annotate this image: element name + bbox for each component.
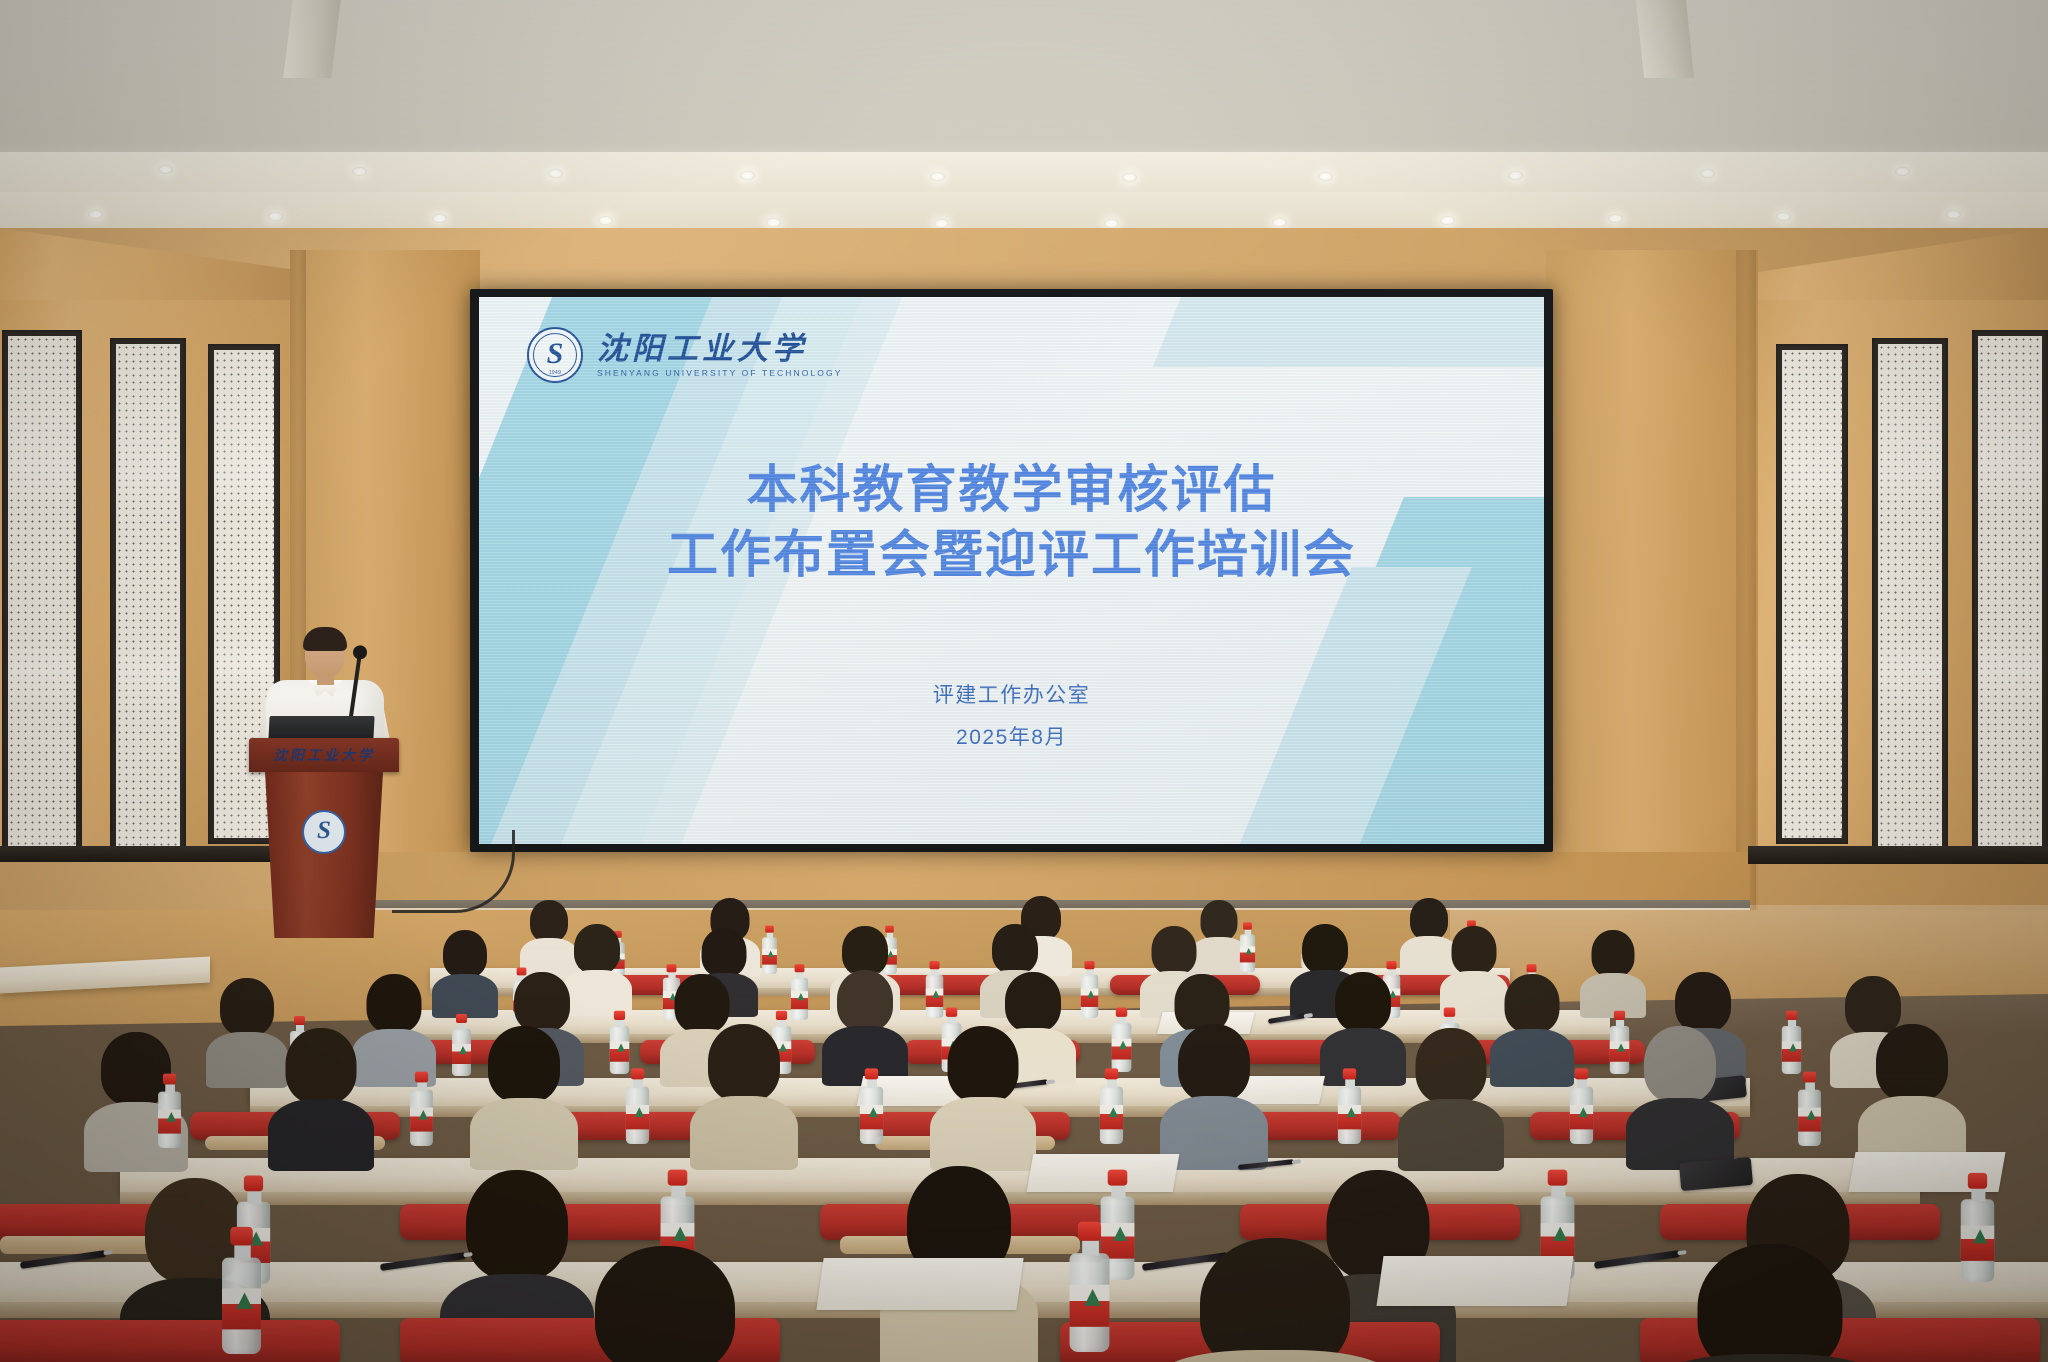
attendee-head — [837, 970, 893, 1031]
chair-back — [0, 1320, 340, 1362]
attendee-head — [842, 926, 888, 976]
bottle-cap — [1078, 1222, 1101, 1241]
bottle-cap — [1108, 1170, 1128, 1186]
downlight-icon — [158, 165, 173, 174]
attendee-shoulders — [432, 974, 498, 1018]
water-bottle — [1798, 1072, 1821, 1146]
bottle-neck — [1970, 1189, 1984, 1201]
downlight-icon — [1608, 214, 1623, 223]
pine-tree-icon — [1084, 1289, 1101, 1306]
pine-tree-icon — [1119, 1041, 1127, 1049]
handout — [816, 1258, 1023, 1310]
attendee — [1580, 930, 1646, 1016]
water-bottle — [1338, 1068, 1361, 1144]
projection-screen[interactable]: S 1949 沈阳工业大学 SHENYANG UNIVERSITY OF TEC… — [470, 289, 1553, 852]
attendee-head — [466, 1170, 568, 1280]
slide-subtitle-line-1: 评建工作办公室 — [479, 675, 1544, 717]
bottle-cap — [865, 1068, 878, 1079]
pine-tree-icon — [419, 1110, 429, 1120]
bottle-neck — [1107, 1079, 1117, 1088]
downlight-icon — [766, 218, 781, 227]
attendee — [1160, 1238, 1390, 1362]
attendee — [1320, 972, 1406, 1084]
bottle-neck — [947, 1017, 955, 1024]
presentation-slide: S 1949 沈阳工业大学 SHENYANG UNIVERSITY OF TEC… — [479, 297, 1544, 844]
bottle-neck — [1550, 1186, 1564, 1198]
pine-tree-icon — [768, 951, 774, 957]
attendee — [560, 1246, 770, 1362]
attendee-head — [443, 930, 487, 978]
university-seal-icon: S 1949 — [527, 327, 583, 383]
podium-body — [265, 772, 383, 938]
attendee-shoulders — [1398, 1099, 1504, 1171]
bottle-cap — [163, 1074, 176, 1085]
attendee-head — [286, 1028, 357, 1104]
bottle-neck — [1117, 1017, 1125, 1024]
bottle-cap — [667, 964, 677, 972]
pine-tree-icon — [1789, 1043, 1797, 1051]
acoustic-panel-face — [1978, 336, 2042, 852]
attendee-head — [1335, 972, 1391, 1032]
water-bottle — [1112, 1008, 1132, 1072]
pine-tree-icon — [797, 993, 804, 1000]
podium-label: 沈阳工业大学 — [273, 745, 375, 765]
downlight-icon — [1508, 171, 1523, 180]
bottle-neck — [633, 1079, 643, 1088]
pine-tree-icon — [1346, 1107, 1356, 1117]
attendee-head — [488, 1026, 560, 1103]
attendee-head — [367, 974, 422, 1033]
pine-tree-icon — [1113, 1227, 1127, 1241]
bottle-neck — [670, 1186, 684, 1198]
podium: 沈阳工业大学 — [249, 738, 399, 938]
attendee-head — [992, 924, 1038, 974]
downlight-icon — [1895, 167, 1910, 176]
attendee — [930, 1026, 1036, 1164]
bottle-cap — [1243, 922, 1252, 929]
attendee-head — [1302, 924, 1348, 974]
bottle-neck — [931, 969, 938, 975]
podium-emblem-icon — [302, 810, 346, 854]
bottle-cap — [1575, 1068, 1588, 1079]
attendee-head — [220, 978, 274, 1036]
attendee-head — [1152, 926, 1197, 975]
pine-tree-icon — [1807, 1110, 1817, 1120]
slide-title-line-1: 本科教育教学审核评估 — [479, 457, 1544, 522]
attendee — [690, 1024, 798, 1164]
downlight-icon — [1272, 218, 1287, 227]
pine-tree-icon — [1973, 1229, 1987, 1243]
ceiling-beam-center — [1636, 0, 1694, 78]
water-bottle — [158, 1074, 181, 1148]
water-bottle — [1081, 961, 1098, 1018]
bottle-neck — [233, 1245, 249, 1259]
attendee — [1660, 1244, 1880, 1362]
university-name-block: 沈阳工业大学 SHENYANG UNIVERSITY OF TECHNOLOGY — [597, 333, 842, 378]
pine-tree-icon — [1553, 1227, 1567, 1241]
acoustic-panel — [1972, 330, 2048, 858]
attendee-shoulders — [470, 1098, 578, 1170]
attendee-shoulders — [930, 1097, 1036, 1171]
pine-tree-icon — [1087, 990, 1094, 997]
bottle-neck — [417, 1082, 427, 1090]
bottle-cap — [946, 1008, 957, 1017]
right-wall-return — [1546, 250, 1758, 910]
attendee — [1626, 1026, 1734, 1164]
attendee-head — [1644, 1026, 1716, 1103]
water-bottle — [1570, 1068, 1593, 1144]
pine-tree-icon — [1617, 1043, 1625, 1051]
wall-baseboard-right — [1748, 846, 2048, 864]
water-bottle — [222, 1227, 261, 1354]
water-bottle — [762, 926, 777, 974]
university-logo: S 1949 沈阳工业大学 SHENYANG UNIVERSITY OF TEC… — [527, 327, 842, 383]
bottle-cap — [1548, 1170, 1568, 1186]
attendee-head — [1675, 972, 1731, 1032]
attendee-head — [514, 972, 570, 1032]
attendee-head — [702, 928, 747, 977]
water-bottle — [1100, 1068, 1123, 1144]
pine-tree-icon — [932, 990, 939, 997]
bottle-cap — [456, 1014, 467, 1023]
water-bottle — [860, 1068, 883, 1144]
bottle-neck — [796, 972, 803, 978]
acoustic-panel — [2, 330, 82, 860]
pine-tree-icon — [634, 1107, 644, 1117]
slide-band-top-right — [1153, 297, 1544, 367]
attendee-head — [1200, 1238, 1350, 1362]
pine-tree-icon — [1246, 948, 1252, 954]
pine-tree-icon — [459, 1046, 467, 1054]
bottle-cap — [230, 1227, 253, 1245]
bottle-neck — [1577, 1079, 1587, 1088]
pine-tree-icon — [236, 1293, 252, 1309]
bottle-neck — [867, 1079, 877, 1088]
bottle-neck — [766, 933, 772, 938]
pine-tree-icon — [167, 1112, 177, 1122]
attendee — [470, 1026, 578, 1164]
attendee-head — [1876, 1024, 1948, 1102]
pine-tree-icon — [617, 1043, 625, 1051]
bottle-cap — [244, 1176, 263, 1192]
downlight-icon — [1946, 210, 1961, 219]
acoustic-panel — [1872, 338, 1948, 854]
water-bottle — [791, 964, 808, 1020]
attendee-shoulders — [690, 1096, 798, 1170]
attendee-shoulders — [1660, 1354, 1880, 1362]
acoustic-panel-face — [8, 336, 76, 854]
ceiling-beam-left — [283, 0, 341, 78]
bottle-cap — [614, 1011, 625, 1020]
water-bottle — [626, 1068, 649, 1144]
downlight-icon — [1318, 172, 1333, 181]
attendee-shoulders — [268, 1099, 374, 1171]
water-bottle — [1782, 1011, 1801, 1074]
water-bottle — [926, 961, 943, 1018]
bottle-cap — [631, 1068, 644, 1079]
bottle-cap — [1386, 961, 1396, 969]
university-name-cn: 沈阳工业大学 — [597, 333, 842, 364]
water-bottle — [1070, 1222, 1110, 1352]
right-wall-shadow-strip — [1736, 250, 1756, 910]
downlight-icon — [88, 210, 103, 219]
bottle-cap — [1803, 1072, 1816, 1083]
bottle-neck — [615, 1020, 623, 1027]
downlight-icon — [598, 216, 613, 225]
attendee-head — [1592, 930, 1635, 977]
attendee — [822, 970, 908, 1084]
attendee-head — [1178, 1024, 1250, 1102]
bottle-cap — [765, 926, 774, 933]
downlight-icon — [740, 171, 755, 180]
attendee — [432, 930, 498, 1014]
downlight-icon — [1104, 219, 1119, 228]
handout — [1376, 1256, 1573, 1306]
attendee-head — [574, 924, 620, 974]
pine-tree-icon — [1108, 1107, 1118, 1117]
bottle-cap — [1527, 964, 1537, 972]
acoustic-panel-face — [116, 344, 180, 854]
bottle-cap — [1968, 1173, 1987, 1189]
slide-title: 本科教育教学审核评估 工作布置会暨迎评工作培训会 — [479, 457, 1544, 588]
downlight-icon — [1700, 169, 1715, 178]
podium-top: 沈阳工业大学 — [249, 738, 399, 772]
seal-year: 1949 — [549, 370, 561, 376]
attendee-head — [1005, 972, 1061, 1032]
bottle-cap — [1105, 1068, 1118, 1079]
water-bottle — [1961, 1173, 1994, 1282]
bottle-cap — [1343, 1068, 1356, 1079]
downlight-icon — [930, 172, 945, 181]
attendee — [1160, 1024, 1268, 1164]
bottle-neck — [458, 1023, 466, 1030]
water-bottle — [610, 1011, 629, 1074]
bottle-cap — [415, 1072, 428, 1083]
water-bottle — [452, 1014, 471, 1076]
bottle-cap — [1116, 1008, 1127, 1017]
bottle-neck — [1615, 1020, 1623, 1027]
attendee-head — [595, 1246, 735, 1362]
speaker-hair — [303, 627, 347, 651]
attendee — [1858, 1024, 1966, 1164]
attendee-head — [1698, 1244, 1843, 1362]
downlight-icon — [548, 169, 563, 178]
bottle-neck — [1805, 1082, 1815, 1090]
water-bottle — [410, 1072, 433, 1146]
bottle-neck — [1244, 930, 1250, 936]
bottle-cap — [668, 1170, 688, 1186]
pine-tree-icon — [673, 1227, 687, 1241]
bottle-neck — [1086, 969, 1093, 975]
pine-tree-icon — [1578, 1107, 1588, 1117]
slide-subtitle-line-2: 2025年8月 — [479, 717, 1544, 759]
bottle-cap — [929, 961, 939, 969]
ceiling-soffit-upper — [0, 152, 2048, 192]
attendee-head — [1505, 974, 1560, 1033]
attendee-head — [1416, 1028, 1487, 1104]
attendee-shoulders — [1320, 1028, 1406, 1086]
downlight-icon — [432, 214, 447, 223]
bottle-cap — [1444, 1008, 1455, 1017]
acoustic-panel — [1776, 344, 1848, 844]
downlight-icon — [352, 167, 367, 176]
attendee-shoulders — [1160, 1350, 1390, 1362]
downlight-icon — [1440, 216, 1455, 225]
pine-tree-icon — [868, 1107, 878, 1117]
bottle-cap — [1786, 1011, 1797, 1020]
attendee-head — [708, 1024, 780, 1102]
water-bottle — [1240, 922, 1255, 972]
attendee-head — [1452, 926, 1497, 975]
slide-subtitle: 评建工作办公室 2025年8月 — [479, 675, 1544, 759]
podium-laptop — [268, 716, 374, 740]
bottle-neck — [1081, 1241, 1098, 1256]
bottle-neck — [1345, 1079, 1355, 1088]
acoustic-panel — [110, 338, 186, 860]
bottle-cap — [1084, 961, 1094, 969]
bottle-neck — [1110, 1186, 1124, 1198]
bottle-neck — [247, 1191, 261, 1203]
bottle-cap — [294, 1016, 305, 1025]
university-name-en: SHENYANG UNIVERSITY OF TECHNOLOGY — [597, 369, 842, 378]
bottle-cap — [776, 1011, 787, 1020]
downlight-icon — [1122, 173, 1137, 182]
acoustic-panel-face — [1878, 344, 1942, 848]
attendee — [268, 1028, 374, 1164]
seal-letter: S — [547, 339, 564, 369]
attendee-head — [948, 1026, 1019, 1103]
downlight-icon — [268, 212, 283, 221]
attendee — [1398, 1028, 1504, 1164]
acoustic-panel-face — [1782, 350, 1842, 838]
downlight-icon — [1776, 212, 1791, 221]
slide-title-line-2: 工作布置会暨迎评工作培训会 — [479, 522, 1544, 587]
bottle-cap — [1614, 1011, 1625, 1020]
bottle-cap — [795, 964, 805, 972]
bottle-neck — [1445, 1017, 1453, 1024]
bottle-neck — [165, 1084, 175, 1092]
bottle-neck — [1787, 1020, 1795, 1027]
lecture-hall-photo: S 1949 沈阳工业大学 SHENYANG UNIVERSITY OF TEC… — [0, 0, 2048, 1362]
downlight-icon — [934, 219, 949, 228]
